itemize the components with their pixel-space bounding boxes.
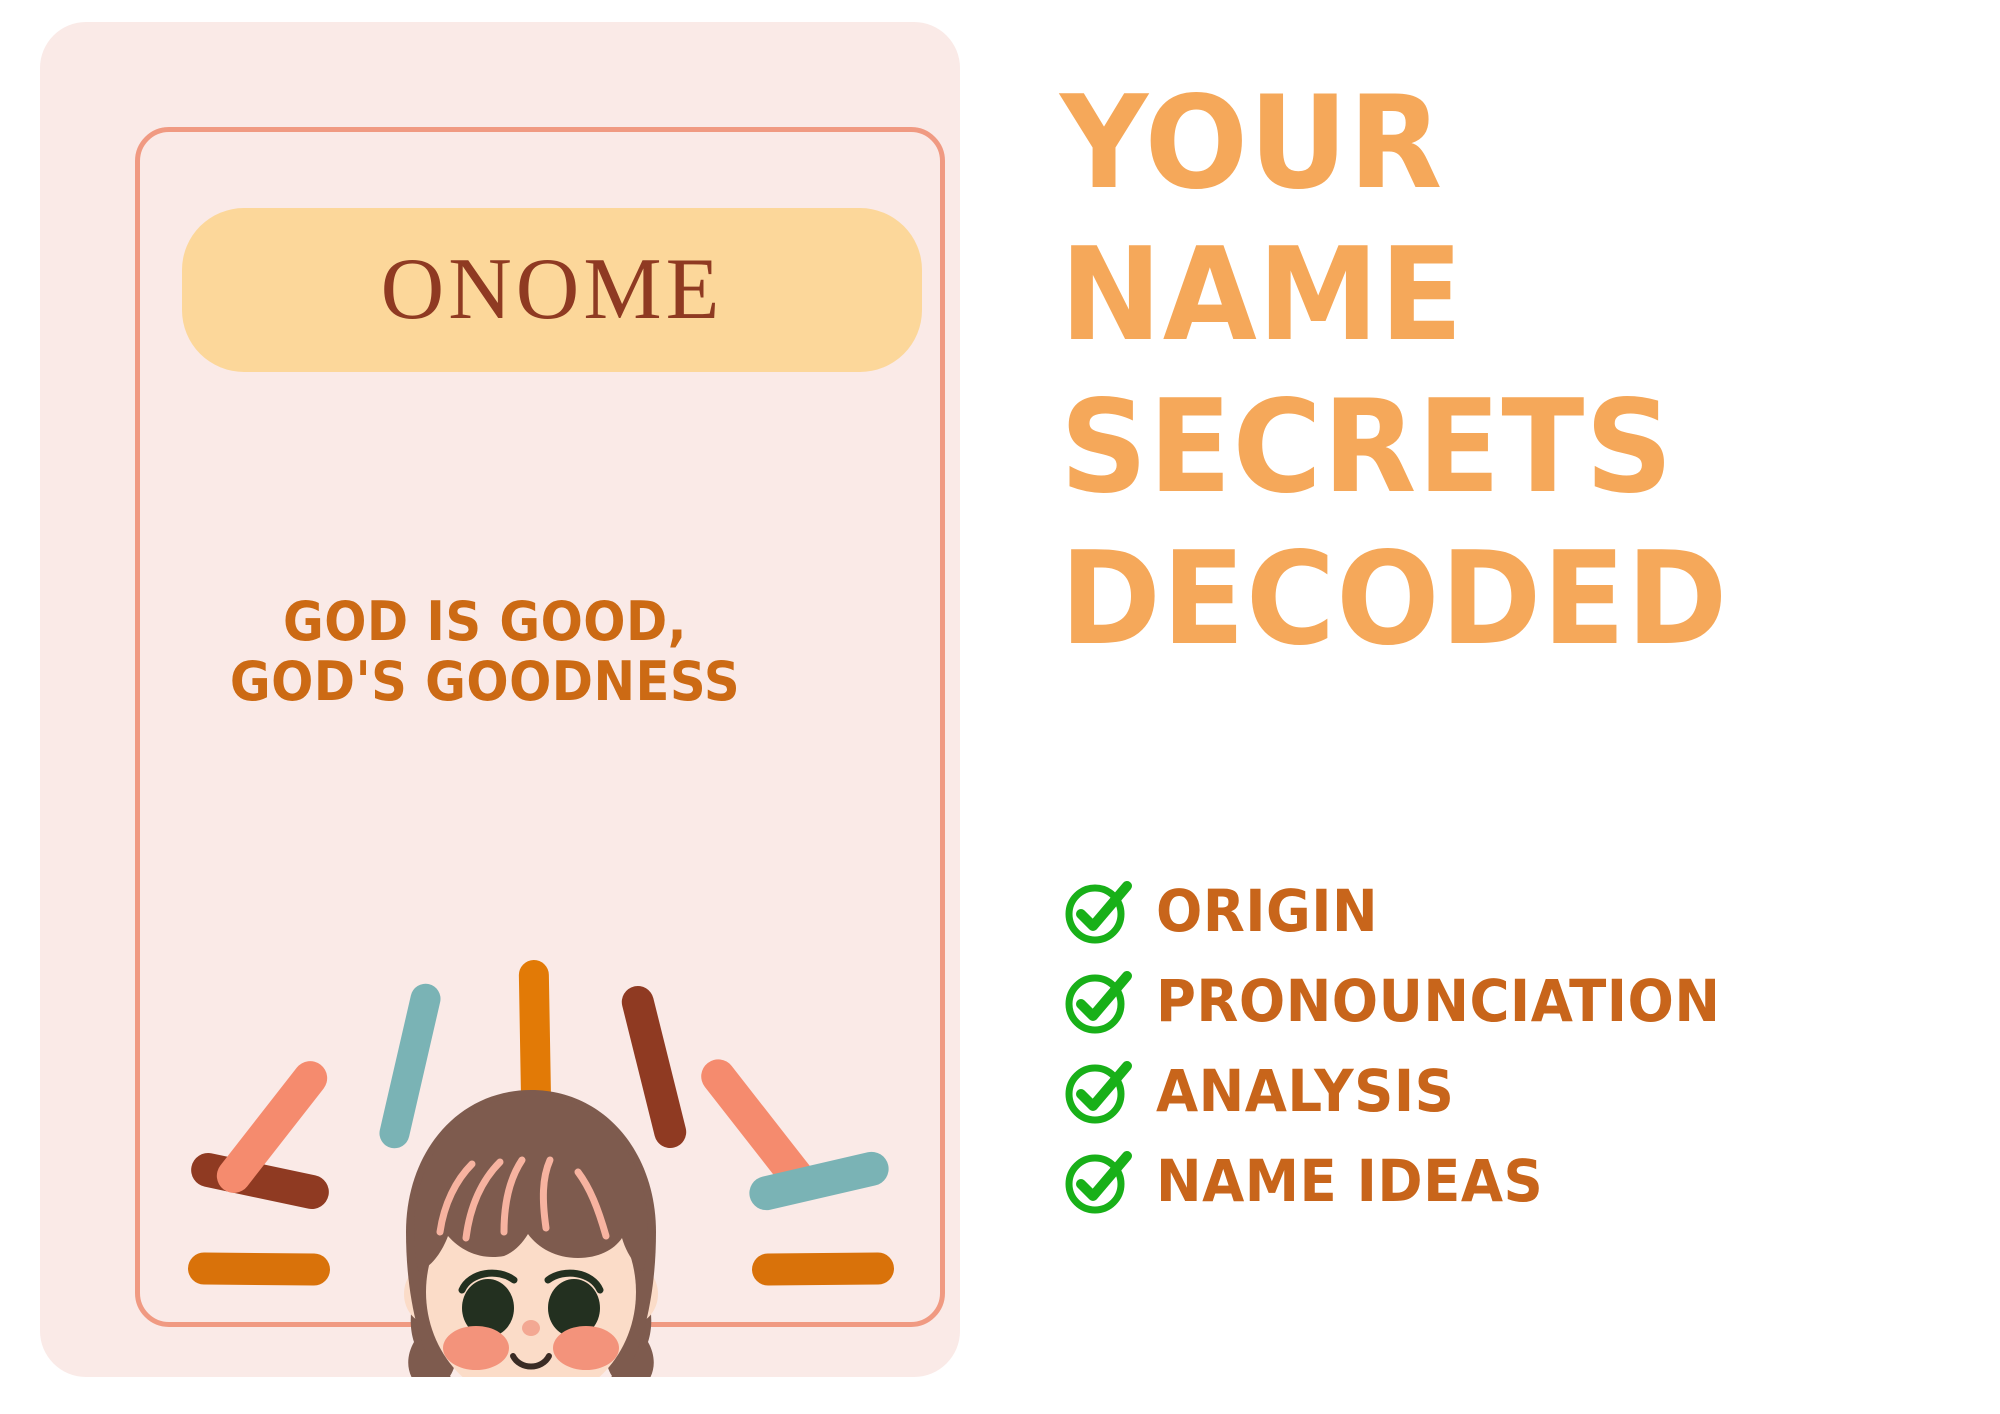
feature-item-analysis: ANALYSIS [1062, 1048, 1962, 1134]
check-circle-icon [1062, 1055, 1134, 1127]
check-circle-icon [1062, 1145, 1134, 1217]
name-pill: ONOME [182, 208, 922, 372]
feature-label: ANALYSIS [1156, 1062, 1454, 1120]
feature-label: PRONOUNCIATION [1156, 972, 1720, 1030]
name-card: ONOME GOD IS GOOD, GOD'S GOODNESS [40, 22, 960, 1377]
girl-illustration [370, 1080, 692, 1377]
check-circle-icon [1062, 875, 1134, 947]
meaning-line-2: GOD'S GOODNESS [163, 652, 807, 712]
feature-item-origin: ORIGIN [1062, 868, 1962, 954]
headline-line-2: NAME [1060, 220, 1915, 372]
feature-item-name-ideas: NAME IDEAS [1062, 1138, 1962, 1224]
ray-orange-left-horizontal [188, 1252, 330, 1285]
feature-label: NAME IDEAS [1156, 1152, 1543, 1210]
right-cheek [553, 1326, 619, 1370]
ray-orange-right-horizontal [752, 1252, 894, 1285]
feature-item-pronounciation: PRONOUNCIATION [1062, 958, 1962, 1044]
headline: YOUR NAME SECRETS DECODED [1060, 68, 1960, 676]
feature-list: ORIGIN PRONOUNCIATION ANALYSIS NAME IDEA… [1062, 868, 1962, 1228]
headline-line-1: YOUR [1060, 68, 1915, 220]
left-cheek [443, 1326, 509, 1370]
feature-label: ORIGIN [1156, 882, 1378, 940]
headline-line-4: DECODED [1060, 524, 1915, 676]
check-circle-icon [1062, 965, 1134, 1037]
name-meaning: GOD IS GOOD, GOD'S GOODNESS [163, 592, 807, 713]
headline-line-3: SECRETS [1060, 372, 1915, 524]
name-text: ONOME [381, 246, 724, 334]
nose [522, 1320, 540, 1336]
right-panel: YOUR NAME SECRETS DECODED ORIGIN PRONOUN… [1040, 0, 1980, 1414]
meaning-line-1: GOD IS GOOD, [163, 592, 807, 652]
